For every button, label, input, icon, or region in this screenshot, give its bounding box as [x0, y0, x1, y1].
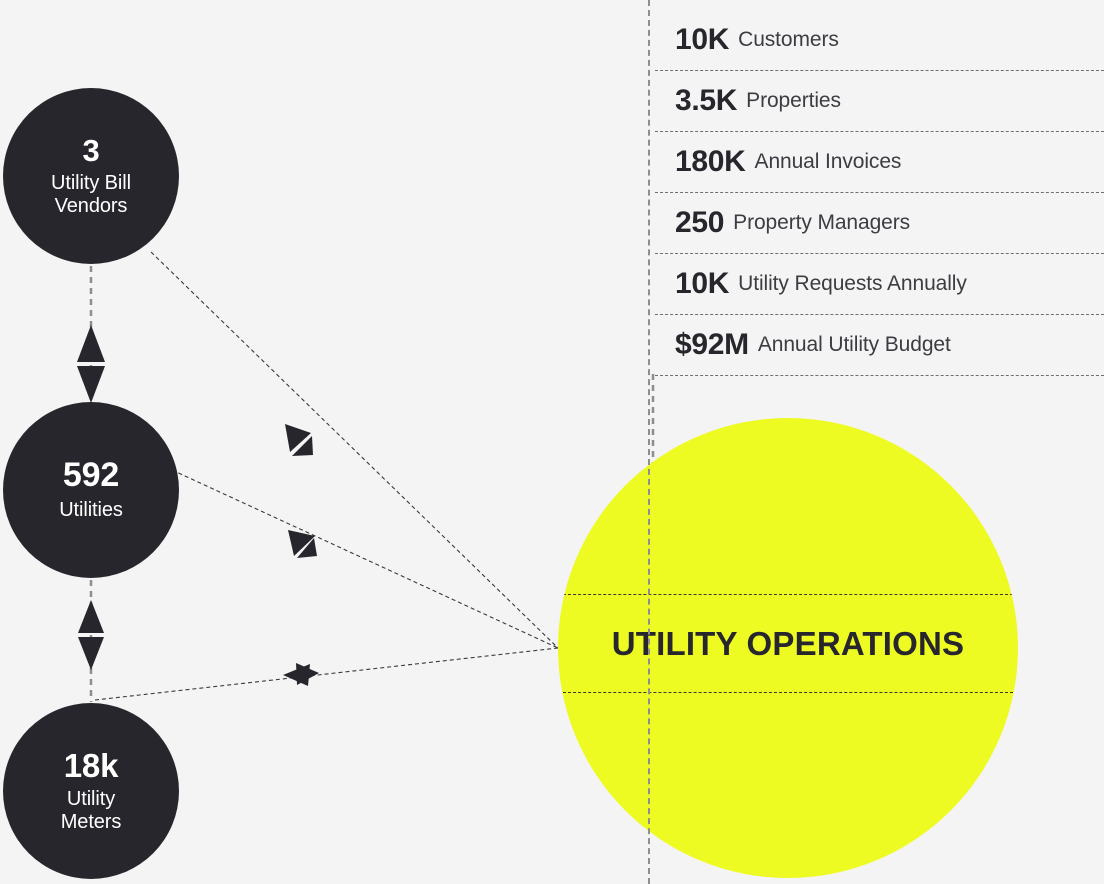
double-arrow-meters-hub-icon: [283, 663, 319, 686]
stat-row[interactable]: 10K Utility Requests Annually: [655, 254, 1104, 315]
node-utility-bill-vendors[interactable]: 3 Utility Bill Vendors: [3, 88, 179, 264]
node-value: 3: [82, 135, 99, 168]
node-value: 592: [63, 458, 119, 494]
hub-circle-utility-operations[interactable]: UTILITY OPERATIONS: [558, 418, 1018, 878]
double-arrow-vendors-utilities-icon: [77, 325, 105, 403]
stat-value: $92M: [675, 328, 749, 362]
node-label-line2: Vendors: [51, 195, 131, 217]
stat-label: Customers: [738, 28, 839, 52]
stats-list: 10K Customers 3.5K Properties 180K Annua…: [655, 10, 1104, 376]
node-label: Utility Meters: [61, 788, 122, 833]
stat-label: Properties: [746, 89, 841, 113]
node-label: Utilities: [59, 499, 123, 521]
node-label-line1: Utility Bill: [51, 172, 131, 194]
node-value: 18k: [64, 749, 118, 784]
stat-row[interactable]: $92M Annual Utility Budget: [655, 315, 1104, 376]
stat-row[interactable]: 250 Property Managers: [655, 193, 1104, 254]
line-vendors-to-hub: [151, 252, 558, 648]
node-utility-meters[interactable]: 18k Utility Meters: [3, 703, 179, 879]
node-label-line2: Meters: [61, 811, 122, 833]
stat-row[interactable]: 10K Customers: [655, 10, 1104, 71]
stat-value: 250: [675, 206, 724, 240]
stat-value: 180K: [675, 145, 746, 179]
stat-value: 10K: [675, 267, 729, 301]
stat-value: 10K: [675, 23, 729, 57]
node-label-line1: Utility: [61, 788, 122, 810]
double-arrow-utilities-meters-icon: [78, 600, 104, 670]
line-utilities-to-hub: [172, 470, 558, 648]
stat-row[interactable]: 180K Annual Invoices: [655, 132, 1104, 193]
stat-label: Annual Invoices: [755, 150, 902, 174]
node-label-line1: Utilities: [59, 499, 123, 521]
stat-label: Property Managers: [733, 211, 910, 235]
hub-title: UTILITY OPERATIONS: [558, 594, 1018, 693]
double-arrow-vendors-hub-icon: [285, 424, 313, 456]
stat-value: 3.5K: [675, 84, 737, 118]
node-utilities[interactable]: 592 Utilities: [3, 402, 179, 578]
stat-label: Utility Requests Annually: [738, 272, 967, 296]
line-meters-to-hub: [95, 648, 558, 700]
node-label: Utility Bill Vendors: [51, 172, 131, 217]
infographic-canvas: UTILITY OPERATIONS 3 Utility Bill Vendor…: [0, 0, 1104, 884]
stat-row[interactable]: 3.5K Properties: [655, 71, 1104, 132]
double-arrow-utilities-hub-icon: [288, 530, 317, 558]
stats-vertical-rail: [648, 0, 650, 884]
stat-label: Annual Utility Budget: [758, 333, 951, 357]
